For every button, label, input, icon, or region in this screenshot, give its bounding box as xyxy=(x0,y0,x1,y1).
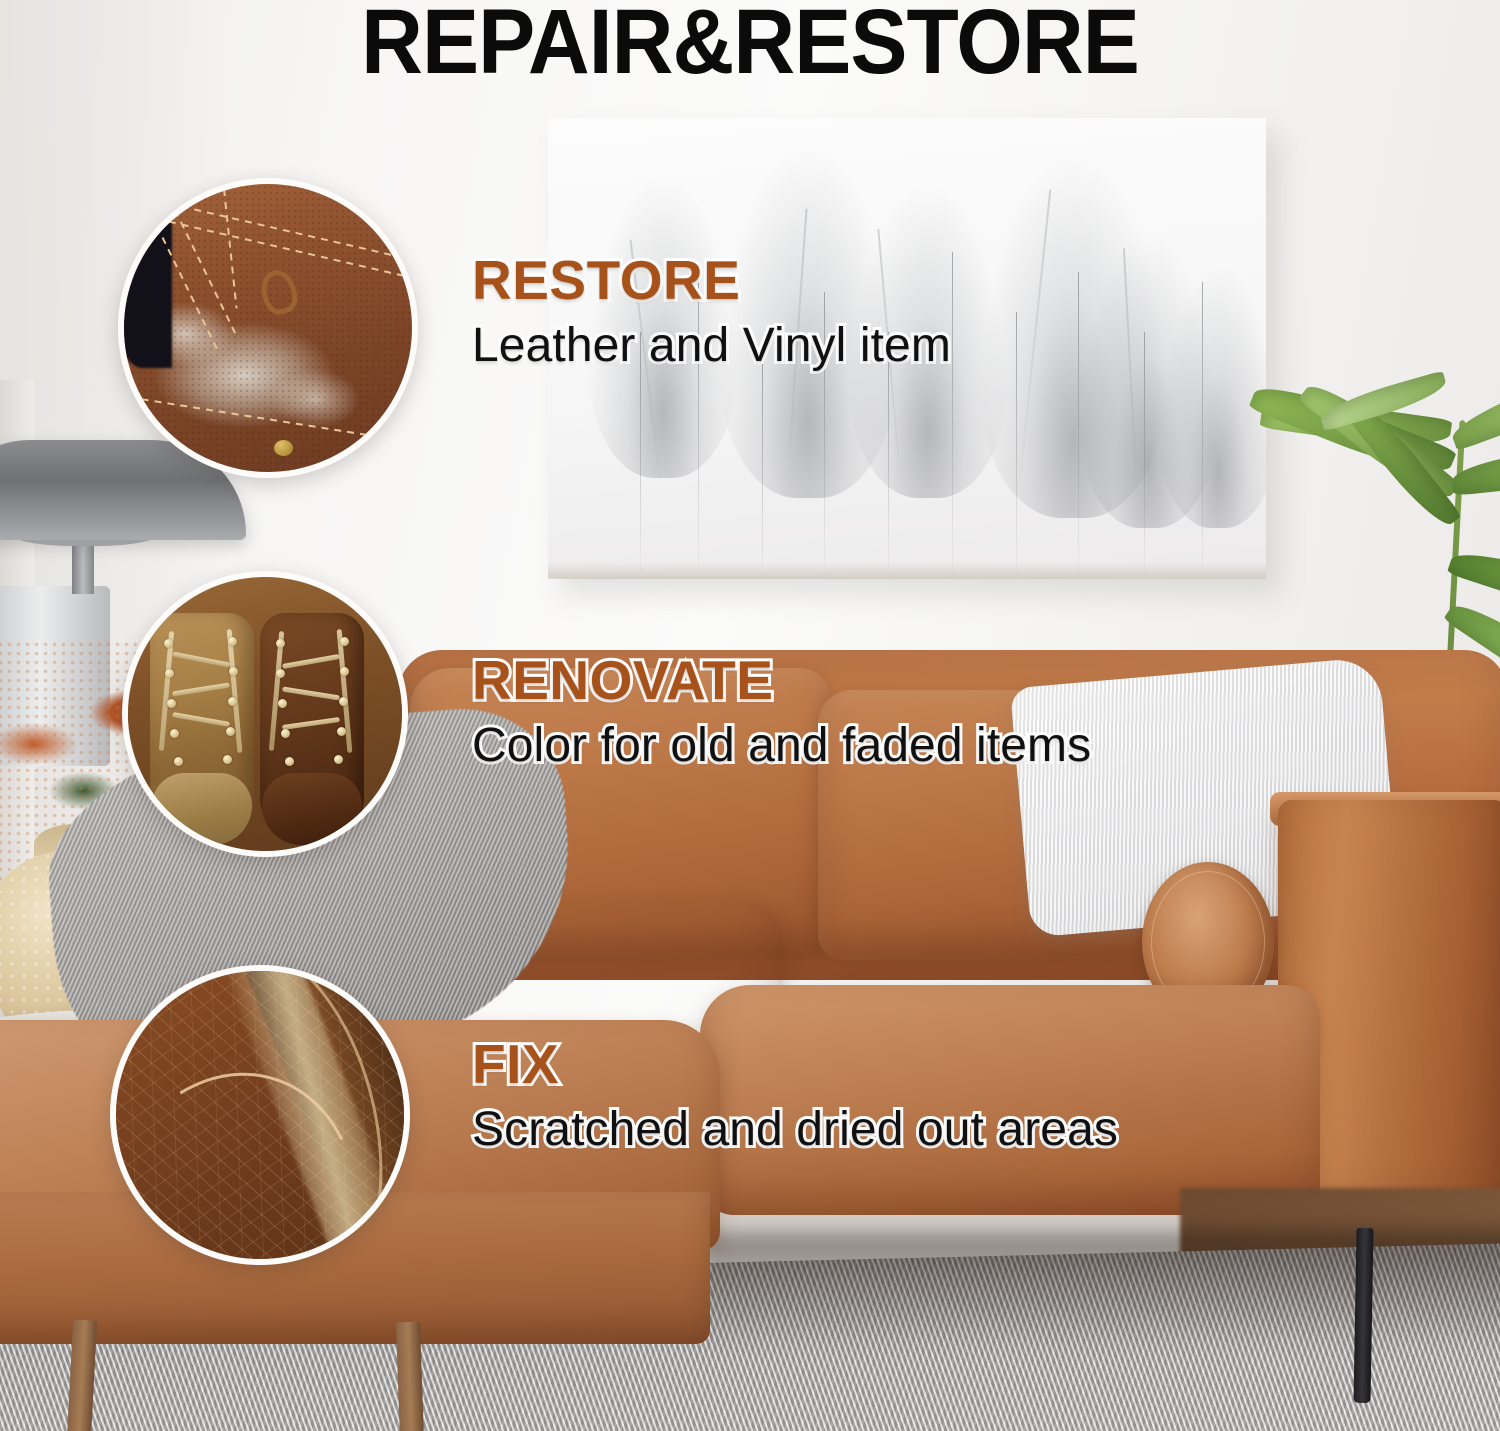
product-infographic: REPAIR&RESTORE xyxy=(0,0,1500,1431)
rivet-icon xyxy=(274,440,293,456)
sofa-leg xyxy=(1353,1228,1373,1403)
feature-fix-kicker: FIX xyxy=(472,1032,1118,1096)
feature-restore-subline: Leather and Vinyl item xyxy=(472,318,951,373)
feature-renovate: RENOVATE Color for old and faded items xyxy=(472,648,1091,773)
feature-renovate-kicker: RENOVATE xyxy=(472,648,1091,712)
sofa-shadow xyxy=(700,1230,1500,1350)
restored-boot xyxy=(260,613,364,845)
feature-restore-kicker: RESTORE xyxy=(472,248,951,312)
ottoman-leg-right xyxy=(396,1322,424,1431)
feature-restore: RESTORE Leather and Vinyl item xyxy=(472,248,951,373)
page-title: REPAIR&RESTORE xyxy=(53,0,1448,90)
thumbnail-scratched-leather xyxy=(110,965,410,1265)
thumbnail-boots-before-after xyxy=(122,571,408,857)
feature-fix-subline: Scratched and dried out areas xyxy=(472,1102,1118,1157)
faded-boot xyxy=(150,613,254,845)
feature-renovate-subline: Color for old and faded items xyxy=(472,718,1091,773)
thumbnail-moldy-leather-bag xyxy=(118,178,418,478)
feature-fix: FIX Scratched and dried out areas xyxy=(472,1032,1118,1157)
